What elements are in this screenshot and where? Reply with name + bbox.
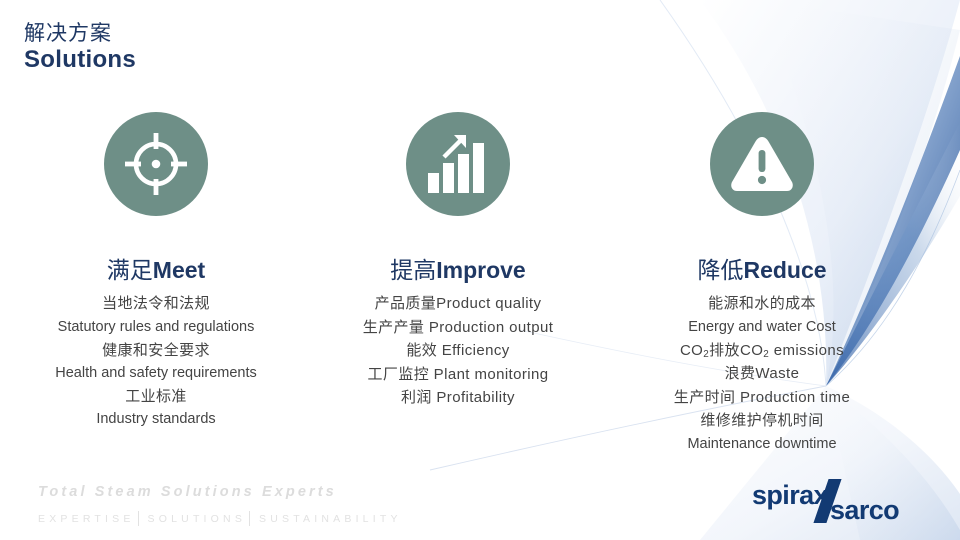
list-item: Energy and water Cost	[612, 316, 912, 339]
footer-tagline: Total Steam Solutions Experts	[38, 484, 402, 500]
target-crosshair-icon	[123, 131, 189, 197]
list-item: 当地法令和法规	[6, 292, 306, 316]
column-heading-en: Improve	[436, 257, 525, 283]
list-item: 工业标准	[6, 385, 306, 409]
solution-column-reduce: 降低Reduce 能源和水的成本 Energy and water Cost C…	[612, 112, 912, 456]
list-item: CO2排放CO2 emissions	[612, 339, 912, 363]
list-item: 产品质量Product quality	[308, 292, 608, 316]
column-lines-reduce: 能源和水的成本 Energy and water Cost CO2排放CO2 e…	[612, 292, 912, 455]
warning-triangle-icon	[729, 134, 795, 194]
spirax-sarco-logo: spirax sarco	[752, 480, 938, 528]
column-heading-cn: 提高	[390, 257, 436, 283]
list-item: 能源和水的成本	[612, 292, 912, 316]
bar-chart-growth-icon-circle	[406, 112, 510, 216]
column-heading-cn: 降低	[697, 257, 743, 283]
column-heading-en: Meet	[153, 257, 205, 283]
footer-divider	[249, 511, 250, 526]
column-lines-improve: 产品质量Product quality 生产产量 Production outp…	[308, 292, 608, 410]
list-item: Maintenance downtime	[612, 433, 912, 456]
list-item: 工厂监控 Plant monitoring	[308, 363, 608, 387]
target-crosshair-icon-circle	[104, 112, 208, 216]
list-item: 生产产量 Production output	[308, 316, 608, 340]
list-item: Industry standards	[6, 408, 306, 431]
solution-column-improve: 提高Improve 产品质量Product quality 生产产量 Produ…	[308, 112, 608, 410]
list-item: 维修维护停机时间	[612, 409, 912, 433]
list-item: 生产时间 Production time	[612, 386, 912, 410]
solutions-columns: 满足Meet 当地法令和法规 Statutory rules and regul…	[0, 112, 960, 456]
warning-triangle-icon-circle	[710, 112, 814, 216]
page-title-en: Solutions	[24, 47, 136, 74]
footer-pillar-solutions: SOLUTIONS	[148, 513, 246, 525]
footer-divider	[138, 511, 139, 526]
page-title: 解决方案 Solutions	[24, 22, 136, 73]
column-heading-en: Reduce	[743, 257, 826, 283]
bar-chart-growth-icon	[426, 133, 490, 195]
list-item: 健康和安全要求	[6, 339, 306, 363]
solution-column-meet: 满足Meet 当地法令和法规 Statutory rules and regul…	[6, 112, 306, 431]
column-lines-meet: 当地法令和法规 Statutory rules and regulations …	[6, 292, 306, 431]
column-heading-improve: 提高Improve	[308, 258, 608, 283]
column-heading-cn: 满足	[107, 257, 153, 283]
list-item: Health and safety requirements	[6, 362, 306, 385]
logo-word-spirax: spirax	[752, 480, 828, 511]
column-heading-meet: 满足Meet	[6, 258, 306, 283]
column-heading-reduce: 降低Reduce	[612, 258, 912, 283]
footer: Total Steam Solutions Experts EXPERTISE …	[38, 484, 402, 526]
logo-word-sarco: sarco	[830, 495, 899, 526]
list-item: Statutory rules and regulations	[6, 316, 306, 339]
page-title-cn: 解决方案	[24, 22, 136, 46]
list-item: 利润 Profitability	[308, 386, 608, 410]
footer-pillar-sustainability: SUSTAINABILITY	[259, 513, 402, 525]
slide-canvas: 解决方案 Solutions 满足Meet 当地法令和法规 St	[0, 0, 960, 540]
footer-pillar-expertise: EXPERTISE	[38, 513, 135, 525]
list-item: 浪费Waste	[612, 362, 912, 386]
list-item: 能效 Efficiency	[308, 339, 608, 363]
footer-pillars: EXPERTISE SOLUTIONS SUSTAINABILITY	[38, 511, 402, 526]
